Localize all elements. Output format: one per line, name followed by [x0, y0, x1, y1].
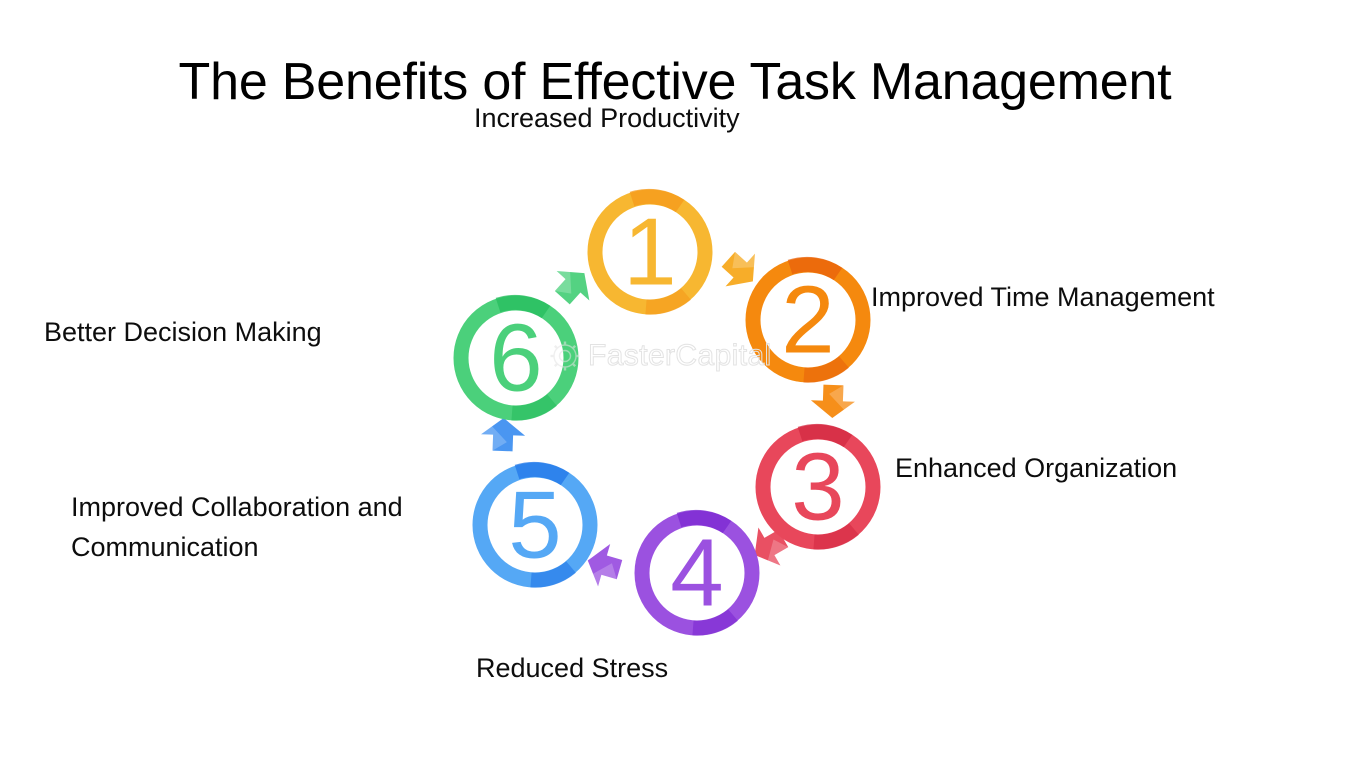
node-label-1: Increased Productivity	[474, 98, 740, 138]
node-number: 4	[670, 520, 723, 627]
node-number: 6	[489, 305, 542, 412]
slide-canvas: The Benefits of Effective Task Managemen…	[0, 0, 1350, 769]
cycle-arrow	[481, 417, 526, 452]
cycle-node-5[interactable]: 5	[480, 469, 590, 580]
node-label-6: Better Decision Making	[44, 312, 322, 352]
cycle-node-2[interactable]: 2	[753, 264, 863, 375]
node-label-2: Improved Time Management	[871, 277, 1215, 317]
cycle-arrow	[810, 384, 855, 419]
node-label-4: Reduced Stress	[476, 648, 668, 688]
node-number: 3	[791, 434, 844, 541]
node-number: 5	[508, 472, 561, 579]
cycle-node-3[interactable]: 3	[763, 431, 873, 542]
node-label-3: Enhanced Organization	[895, 448, 1177, 488]
cycle-node-4[interactable]: 4	[642, 517, 752, 628]
cycle-node-1[interactable]: 1	[595, 196, 705, 307]
node-layer: 123456	[461, 196, 873, 628]
node-number: 1	[623, 199, 676, 306]
node-label-5: Improved Collaboration and Communication	[71, 487, 403, 567]
node-number: 2	[781, 267, 834, 374]
cycle-node-6[interactable]: 6	[461, 302, 571, 413]
